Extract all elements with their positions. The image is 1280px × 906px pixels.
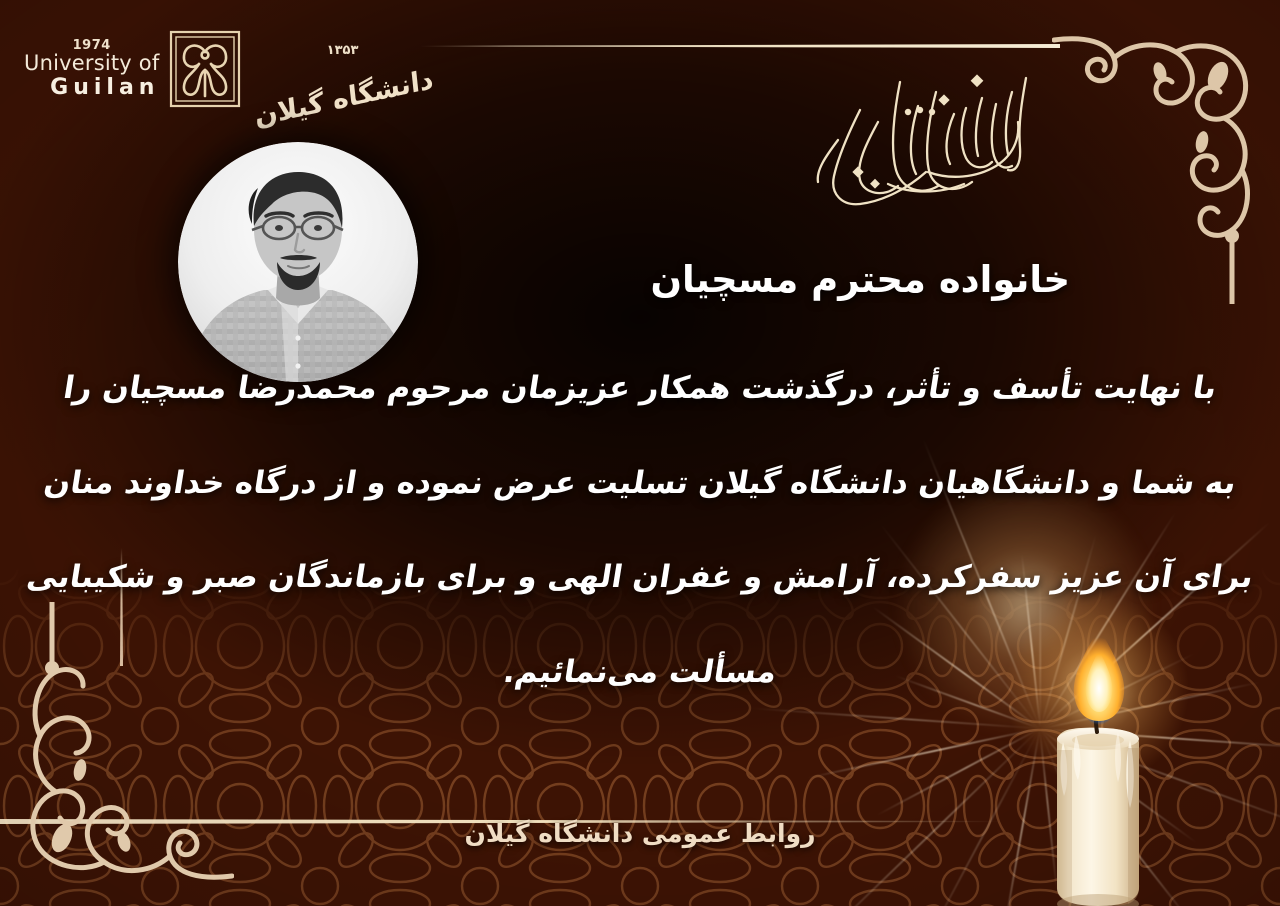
logo-english-text: 1974 University of Guilan xyxy=(24,39,159,99)
persian-calligraphy-icon xyxy=(768,52,1068,222)
portrait-photo-icon xyxy=(178,142,418,382)
logo-persian-text: ۱۳۵۳ دانشگاه گیلان xyxy=(251,43,433,95)
message-line: به شما و دانشگاهیان دانشگاه گیلان تسلیت … xyxy=(0,467,1280,500)
message-line: برای آن عزیز سفرکرده، آرامش و غفران الهی… xyxy=(0,561,1280,594)
lit-candle-icon xyxy=(1002,620,1192,906)
university-logo: 1974 University of Guilan ۱۳۵۳ دانشگاه xyxy=(24,30,434,108)
ornate-scroll-corner-icon xyxy=(1052,14,1272,304)
page-title: خانواده محترم مسچیان xyxy=(650,258,1070,301)
logo-english-line2: Guilan xyxy=(50,77,159,99)
university-of-guilan-emblem-icon xyxy=(169,30,241,108)
condolence-poster: 1974 University of Guilan ۱۳۵۳ دانشگاه xyxy=(0,0,1280,906)
message-line: با نهایت تأسف و تأثر، درگذشت همکار عزیزم… xyxy=(0,372,1280,405)
logo-year-persian: ۱۳۵۳ xyxy=(327,43,359,58)
logo-english-line1: University of xyxy=(24,53,159,74)
